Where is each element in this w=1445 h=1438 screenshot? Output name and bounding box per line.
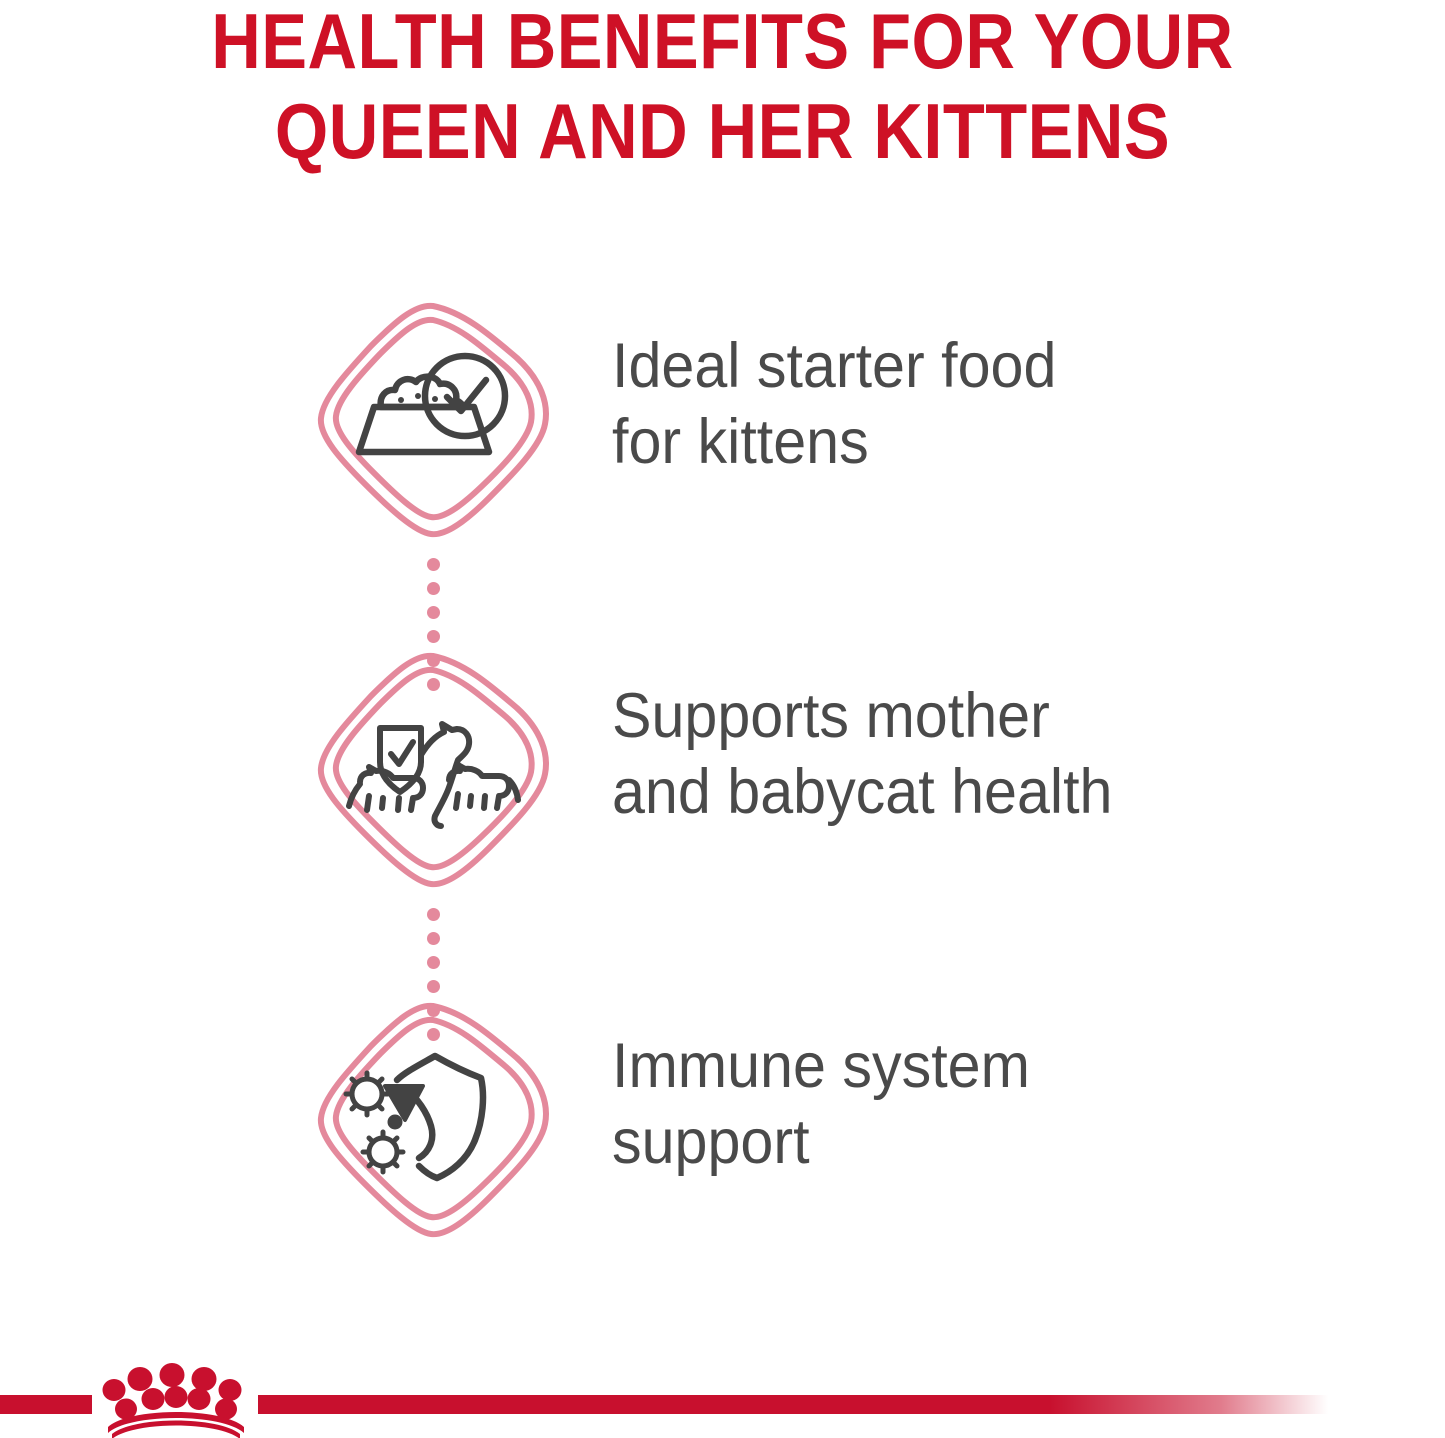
benefit-item: Ideal starter food for kittens <box>0 300 1445 650</box>
connector-dot <box>427 956 440 969</box>
dotted-connector <box>424 558 442 642</box>
benefits-list: Ideal starter food for kittens <box>0 300 1445 1350</box>
connector-dot <box>427 606 440 619</box>
connector-dot <box>427 630 440 643</box>
footer <box>0 1385 1445 1438</box>
shield-cat-kittens-icon <box>313 650 553 890</box>
benefit-label-line-2: support <box>612 1104 1364 1180</box>
benefit-label: Immune system support <box>612 1028 1364 1180</box>
connector-dot <box>427 932 440 945</box>
connector-dot <box>427 908 440 921</box>
benefit-label-line-1: Ideal starter food <box>612 328 1364 404</box>
page-title-line-2: QUEEN AND HER KITTENS <box>87 86 1359 176</box>
shield-germ-defense-icon <box>313 1000 553 1240</box>
benefit-label: Ideal starter food for kittens <box>612 328 1364 480</box>
benefit-label-line-2: and babycat health <box>612 754 1364 830</box>
footer-rule-left <box>0 1395 92 1414</box>
connector-dot <box>427 558 440 571</box>
connector-dot <box>427 980 440 993</box>
benefit-label-line-2: for kittens <box>612 404 1364 480</box>
benefit-item: Immune system support <box>0 1000 1445 1350</box>
benefit-label-line-1: Immune system <box>612 1028 1364 1104</box>
dotted-connector <box>424 908 442 992</box>
benefit-label: Supports mother and babycat health <box>612 678 1364 830</box>
benefit-label-line-1: Supports mother <box>612 678 1364 754</box>
health-benefits-infographic: HEALTH BENEFITS FOR YOUR QUEEN AND HER K… <box>0 0 1445 1438</box>
footer-rule-right <box>258 1395 1328 1414</box>
page-title-line-1: HEALTH BENEFITS FOR YOUR <box>87 0 1359 86</box>
royal-canin-crown-logo <box>92 1357 260 1438</box>
page-title: HEALTH BENEFITS FOR YOUR QUEEN AND HER K… <box>0 0 1445 176</box>
connector-dot <box>427 582 440 595</box>
food-bowl-check-icon <box>313 300 553 540</box>
benefit-item: Supports mother and babycat health <box>0 650 1445 1000</box>
